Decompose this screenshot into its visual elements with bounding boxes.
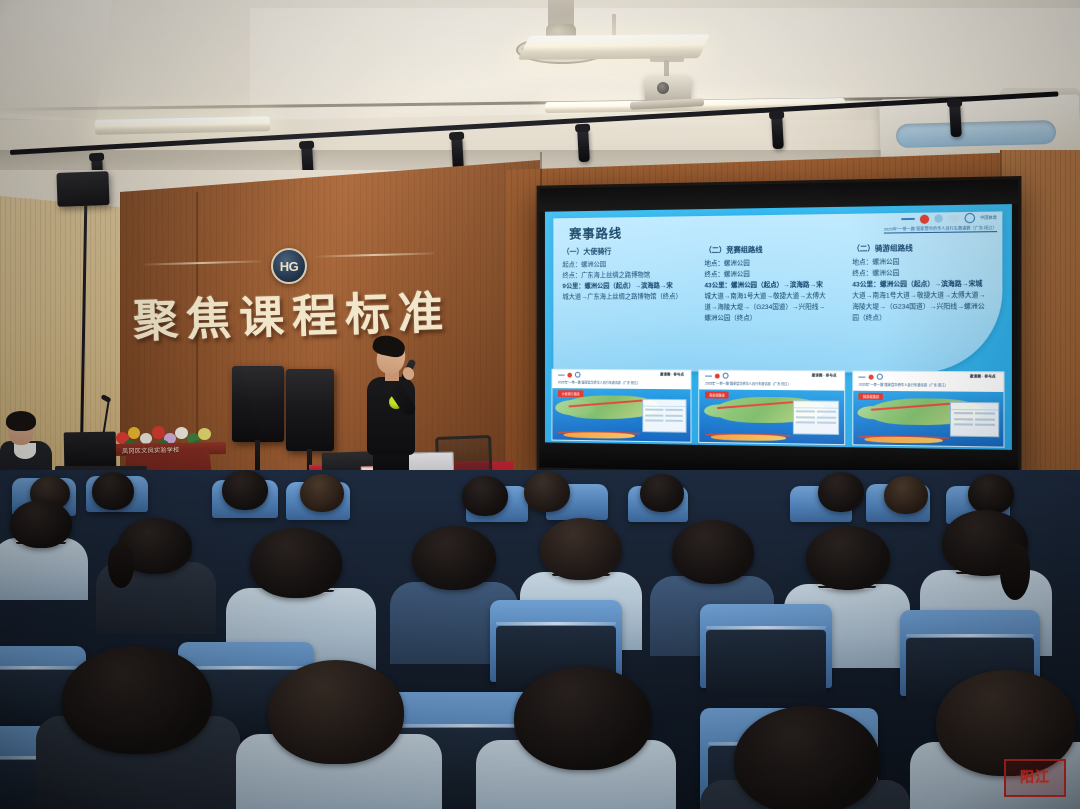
column-line: 起点：螺洲公园 [563,259,696,270]
projection-screen[interactable]: 赛事路线 中国体育 2025年"一带一路"国家暨华侨华人自行车邀请赛（广东·阳江… [537,176,1022,480]
map-header-right-text: 邀请赛 · 参与点 [660,373,684,378]
route-map-3: 邀请赛 · 参与点 2025年"一带一路"国家暨华侨华人自行车邀请赛（广东·阳江… [852,370,1005,447]
column-line: 终点：广东海上丝绸之路博物馆 [563,270,696,280]
map-header-text: 2025年"一带一路"国家暨华侨华人自行车邀请赛（广东·阳江） [705,380,791,386]
presentation-slide: 赛事路线 中国体育 2025年"一带一路"国家暨华侨华人自行车邀请赛（广东·阳江… [545,204,1012,450]
map-legend-box [642,398,687,432]
slide-logo-caption: 中国体育 [980,215,997,221]
slide-title: 赛事路线 [569,223,622,242]
logo-dash-icon [901,218,914,220]
stage-speaker-right [286,369,334,451]
projector-lens-icon [657,82,669,94]
audience-head [10,500,72,548]
map-route-tag: 骑游组路线 [859,392,883,399]
audience-head [818,472,864,512]
audience-head [524,472,570,512]
spotlight-icon [949,103,962,138]
map-header-text: 2025年"一带一路"国家暨华侨华人自行车邀请赛（广东·阳江） [859,381,948,387]
map-header-right-text: 邀请赛 · 参与点 [970,375,996,380]
ponytail [1000,544,1030,600]
map-logo-ring-icon [877,374,883,380]
slide-logo-group: 中国体育 [901,213,997,225]
spotlight-icon [771,115,784,150]
column-line: 终点：螺洲公园 [852,268,997,279]
map-logo-red-dot-icon [869,375,874,380]
column-line: 园（终点） [852,313,997,323]
air-conditioner-grille-icon [896,120,1057,148]
map-logo-ring-icon [723,373,729,379]
map-legend-row [645,414,683,417]
person-collar [14,443,36,459]
audience-head [62,646,212,754]
audience-head [734,706,880,809]
school-badge-wall: HG [271,248,307,284]
map-header: 邀请赛 · 参与点 2025年"一带一路"国家暨华侨华人自行车邀请赛（广东·阳江… [853,371,1004,391]
audience-head [250,528,342,598]
map-header: 邀请赛 · 参与点 2025年"一带一路"国家暨华侨华人自行车邀请赛（广东·阳江… [552,370,690,389]
column-line: 9公里：螺洲公园（起点）→滨海路→宋 [563,281,696,291]
person-hair [6,411,36,431]
seat-rim [496,622,616,625]
logo-pale-dot-icon [934,215,942,223]
map-legend-bar [643,399,686,406]
wall-mounted-speaker [56,171,109,207]
column-line: 大道→南海1号大道→敬捷大道→太傅大道→ [852,291,997,301]
map-logo-group [558,372,581,378]
seat-rim [906,634,1034,637]
slide-logo-subcaption: 2025年"一带一路"国家暨华侨华人自行车邀请赛（广东·阳江） [884,225,997,234]
map-logo-group [705,373,728,379]
map-route-tag: 大使骑行路线 [558,390,583,397]
auditorium-photo: HG 聚焦课程标准 赛事路线 中国体育 2025年"一带一路"国家暨华侨华人自行… [0,0,1080,809]
map-header-text: 2025年"一带一路"国家暨华侨华人自行车邀请赛（广东·阳江） [558,379,640,385]
logo-red-dot-icon [920,214,929,223]
map-header: 邀请赛 · 参与点 2025年"一带一路"国家暨华侨华人自行车邀请赛（广东·阳江… [700,370,844,390]
ponytail [108,544,134,588]
audience-head [268,660,404,764]
audience-head [672,520,754,584]
audience-head [92,472,134,510]
map-legend-row [954,412,995,415]
audience-head [462,476,508,516]
map-logo-dash-icon [558,374,565,375]
audience-head [540,518,622,580]
audience-head [884,476,928,514]
slide-map-row: 邀请赛 · 参与点 2025年"一带一路"国家暨华侨华人自行车邀请赛（广东·阳江… [552,369,1005,448]
map-legend-row [796,422,835,425]
map-route-tag: 竞赛组路线 [705,391,728,398]
watermark-logo: 阳江 [1004,759,1066,797]
map-legend-row [645,409,683,412]
column-line: 海陵大堤→（G234国道）→兴阳线→螺洲公 [852,302,997,312]
audience-head [222,470,268,510]
audience-head [968,474,1014,514]
column-line: 城大道→南海1号大道→敬捷大道→太傅大 [705,291,844,301]
map-logo-dash-icon [705,375,712,376]
audience-head [640,474,684,512]
audience-head [514,666,652,770]
map-legend-box [793,400,840,435]
column-heading: （二）竞赛组路线 [705,243,844,255]
column-line: 螺洲公园（终点） [705,314,844,324]
seat-rim [0,666,82,669]
map-logo-red-dot-icon [567,373,572,378]
route-map-1: 邀请赛 · 参与点 2025年"一带一路"国家暨华侨华人自行车邀请赛（广东·阳江… [552,369,692,443]
map-legend-box [950,401,999,437]
map-legend-bar [951,402,998,410]
audience-head [806,526,890,590]
screen-display-area: 赛事路线 中国体育 2025年"一带一路"国家暨华侨华人自行车邀请赛（广东·阳江… [545,204,1012,450]
route-map-2: 邀请赛 · 参与点 2025年"一带一路"国家暨华侨华人自行车邀请赛（广东·阳江… [699,369,845,444]
map-logo-ring-icon [575,372,581,378]
spotlight-icon [577,128,590,163]
column-heading: （一）大使骑行 [563,245,696,257]
column-line: 地点：螺洲公园 [705,258,844,269]
slide-column-2: （二）竞赛组路线 地点：螺洲公园 终点：螺洲公园 43公里：螺洲公园（起点）→滨… [705,243,844,325]
seat-rim [184,666,308,669]
stage-speaker-left [232,366,284,442]
column-line: 地点：螺洲公园 [852,257,997,268]
map-legend-row [796,416,835,419]
map-legend-row [954,424,995,428]
stage-monitor-display[interactable] [64,432,117,469]
slide-columns: （一）大使骑行 起点：螺洲公园 终点：广东海上丝绸之路博物馆 9公里：螺洲公园（… [563,241,997,325]
seat-rim [706,626,826,629]
presenter-person [361,337,431,477]
spotlight-icon [451,136,464,171]
logo-pale-pill-icon [948,215,959,222]
audience-head [300,474,344,512]
column-line: 43公里：螺洲公园（起点）→滨海路→宋 [705,280,844,290]
watermark-text: 阳江 [1020,771,1050,785]
slide-column-3: （二）骑游组路线 地点：螺洲公园 终点：螺洲公园 43公里：螺洲公园（起点）→滨… [852,241,997,325]
map-header-right-text: 邀请赛 · 参与点 [812,374,837,379]
audience-head [412,526,496,590]
column-line: 43公里：螺洲公园（起点）→滨海路→宋城 [852,279,997,290]
map-legend-bar [794,401,839,409]
map-logo-red-dot-icon [715,374,720,379]
column-line: 道→海陵大堤→（G234国道）→兴阳线→ [705,303,844,313]
map-legend-row [645,420,683,423]
auditorium-seat-back [706,630,826,696]
column-line: 终点：螺洲公园 [705,269,844,280]
logo-ring-icon [964,213,974,223]
column-heading: （二）骑游组路线 [852,241,997,254]
map-legend-row [796,411,835,414]
column-line: 城大道→广东海上丝绸之路博物馆（终点） [563,292,696,302]
map-logo-group [859,374,883,380]
map-legend-row [954,418,995,421]
map-logo-dash-icon [859,376,866,377]
audience-area [0,470,1080,809]
slide-column-1: （一）大使骑行 起点：螺洲公园 终点：广东海上丝绸之路博物馆 9公里：螺洲公园（… [563,245,696,326]
